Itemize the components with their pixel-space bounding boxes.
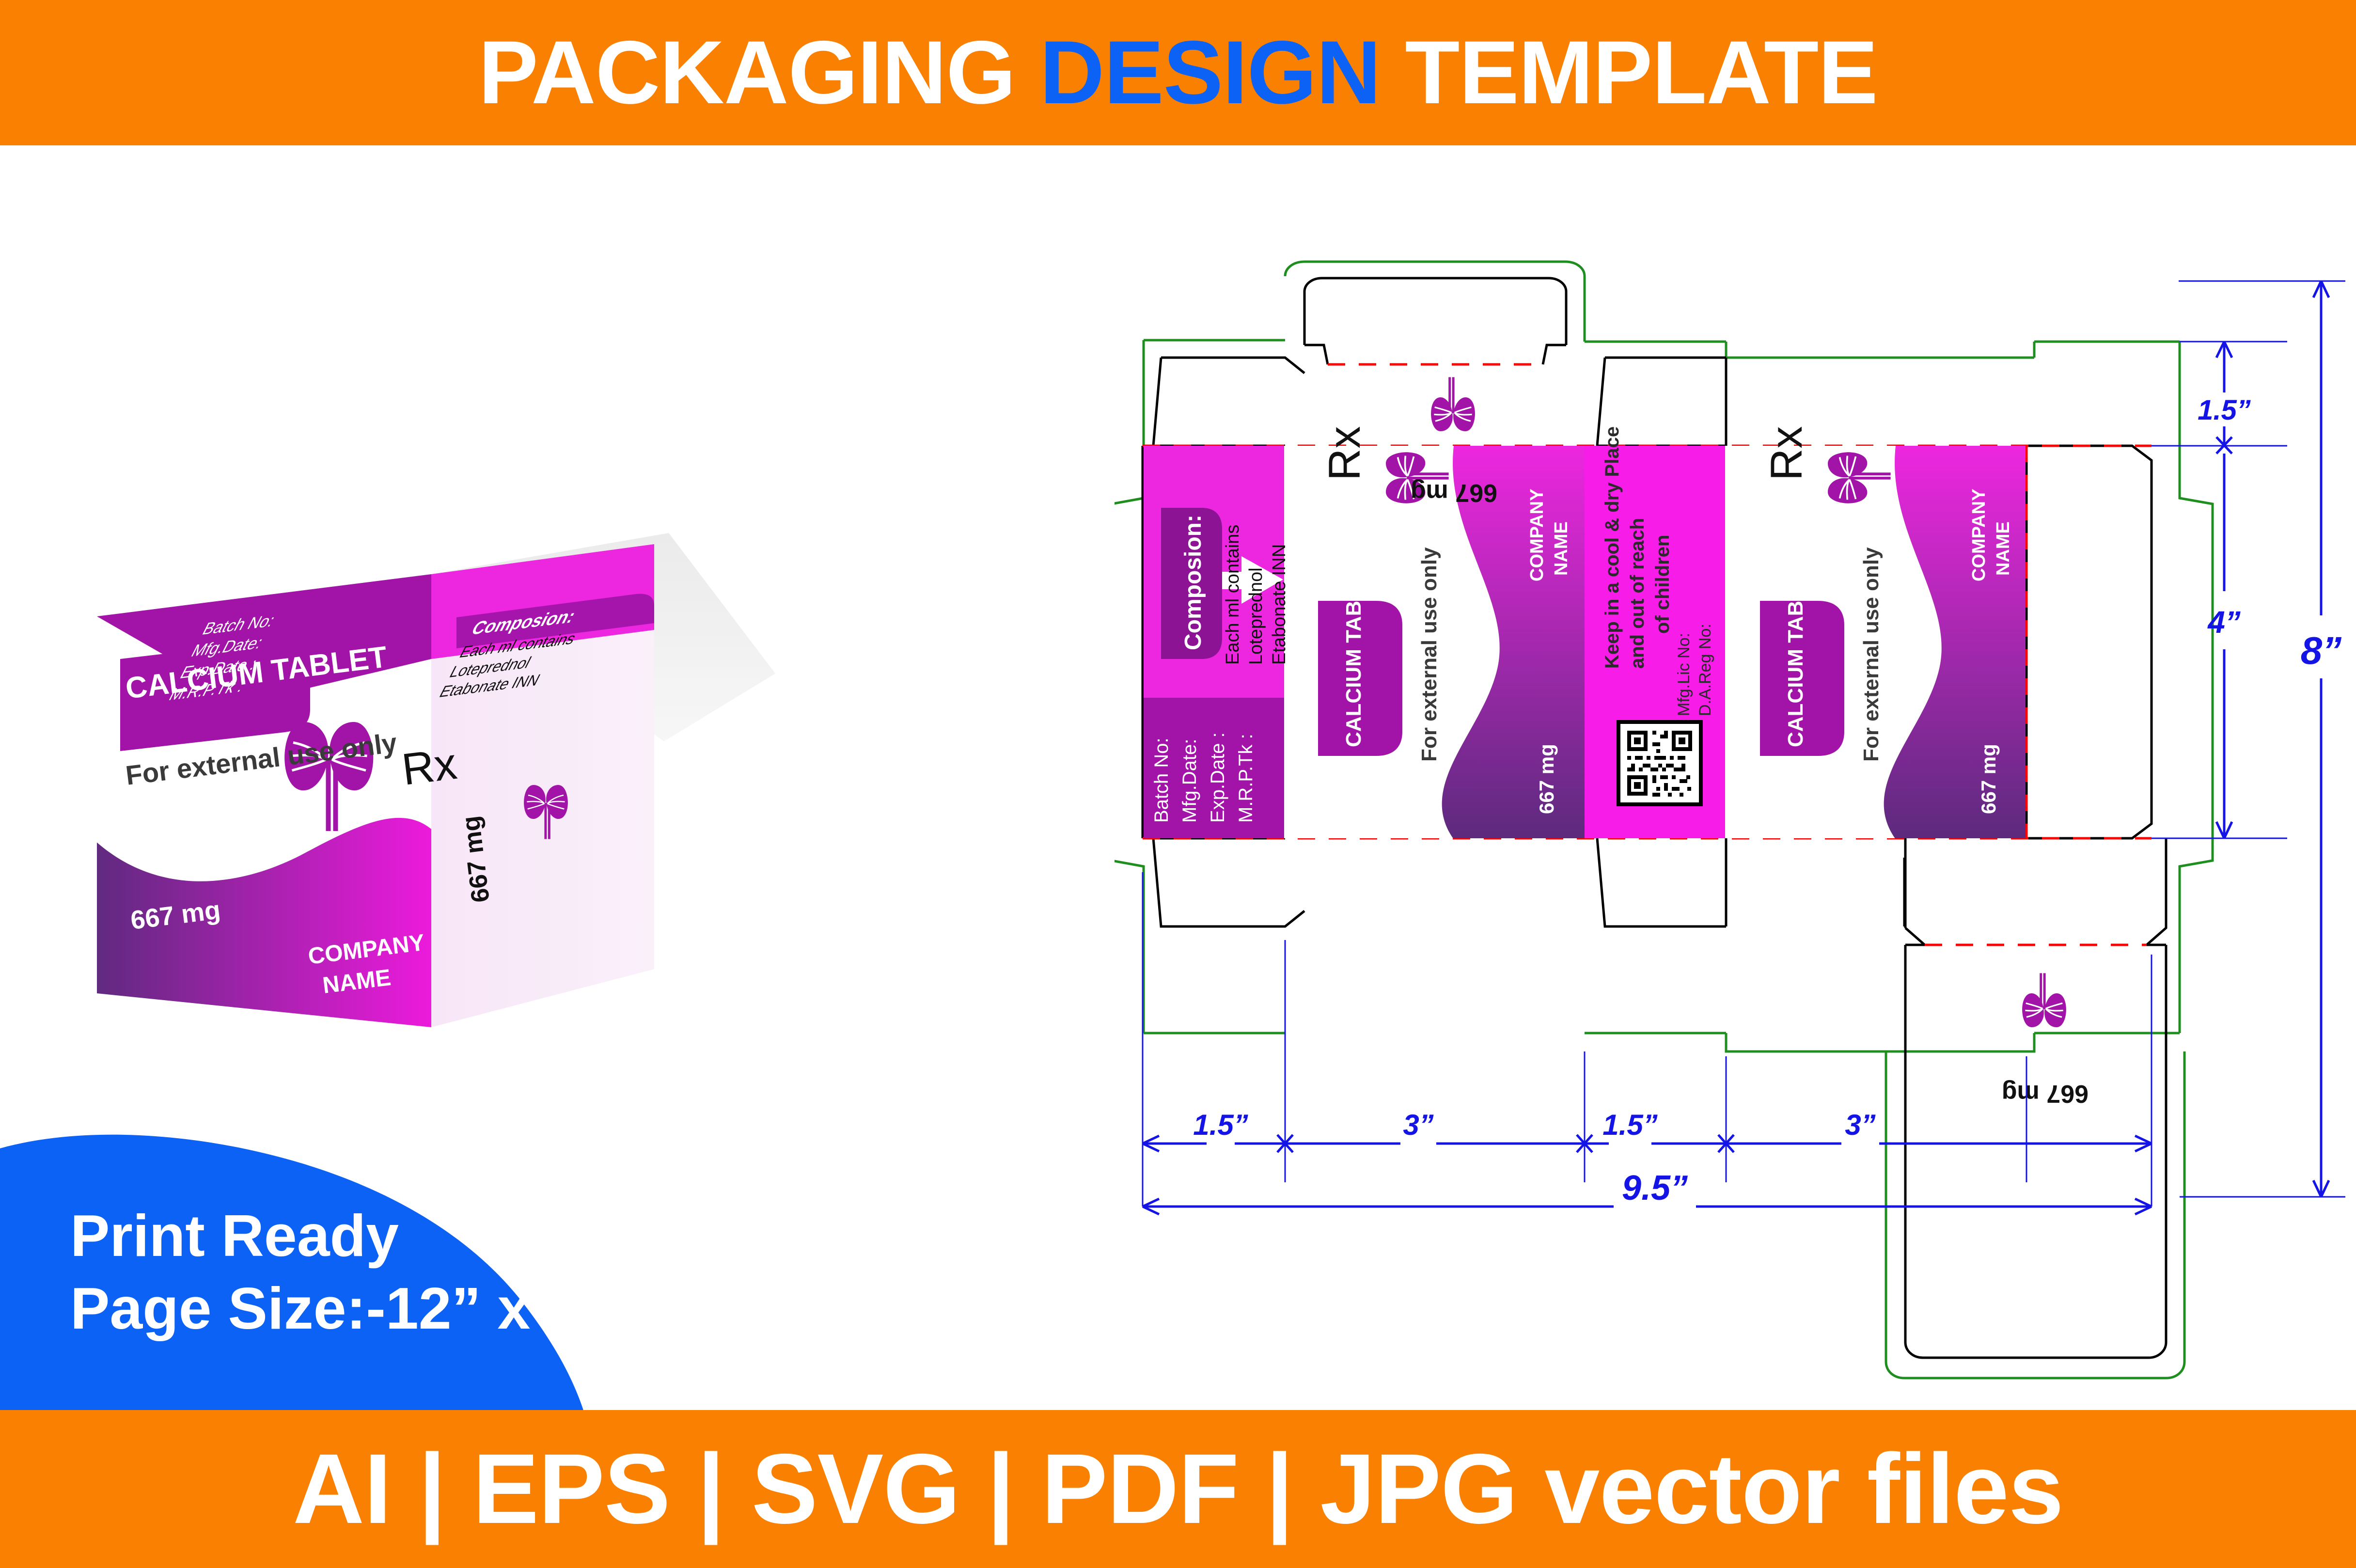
kidney-icon-top-flap xyxy=(1431,377,1475,431)
dim-label-total-width: 9.5” xyxy=(1622,1169,1688,1207)
qr-code xyxy=(1618,722,1701,804)
dieline-drawing: Composion: Each ml contains Loteprednol … xyxy=(1115,233,2355,1405)
title-part-design: DESIGN xyxy=(1040,23,1381,123)
storage-line-2: and out of reach xyxy=(1627,518,1648,669)
license-line-2: D.A.Reg No: xyxy=(1696,624,1714,716)
title-part-template: TEMPLATE xyxy=(1381,23,1878,123)
rx-symbol-panel-d: Rx xyxy=(1762,426,1811,481)
batch-line-3: Exp.Date : xyxy=(1207,732,1228,823)
dim-label-h1: 1.5” xyxy=(1193,1109,1248,1141)
company-line2-panel-b: NAME xyxy=(1551,521,1571,576)
page-size-label: Page Size:-12” x 12” xyxy=(70,1274,642,1342)
product-name-panel-d: CALCIUM TABLET xyxy=(1784,561,1807,747)
dosage-panel-d: 667 mg xyxy=(1977,744,2000,814)
batch-line-1: Batch No: xyxy=(1151,737,1172,823)
company-line1-panel-b: COMPANY xyxy=(1527,489,1547,581)
composition-line-3: Etabonate INN xyxy=(1269,544,1289,665)
bottom-banner: AI | EPS | SVG | PDF | JPG vector files xyxy=(0,1410,2356,1568)
dosage-panel-b: 667 mg xyxy=(1535,744,1558,814)
dim-label-v-total: 8” xyxy=(2301,629,2342,672)
top-banner: PACKAGING DESIGN TEMPLATE xyxy=(0,0,2356,145)
composition-line-1: Each ml contains xyxy=(1223,525,1243,665)
composition-title: Composion: xyxy=(1180,515,1206,650)
batch-line-4: M.R.P.Tk : xyxy=(1235,734,1257,823)
license-line-1: Mfg.Lic No: xyxy=(1675,633,1693,716)
dim-label-h2: 3” xyxy=(1403,1109,1433,1141)
usage-panel-d: For external use only xyxy=(1859,547,1883,762)
dim-label-h4: 3” xyxy=(1845,1109,1875,1141)
file-formats-label: AI | EPS | SVG | PDF | JPG vector files xyxy=(293,1432,2063,1546)
rx-symbol-panel-b: Rx xyxy=(1320,426,1369,481)
storage-line-3: of children xyxy=(1652,535,1673,634)
title-part-packaging: PACKAGING xyxy=(478,23,1039,123)
mockup-rx-symbol: Rx xyxy=(399,739,459,795)
company-line1-panel-d: COMPANY xyxy=(1969,489,1989,581)
dim-label-v-top: 1.5” xyxy=(2198,394,2251,426)
storage-line-1: Keep in a cool & dry Place xyxy=(1602,426,1623,669)
company-line2-panel-d: NAME xyxy=(1993,521,2013,576)
batch-line-2: Mfg.Date: xyxy=(1179,739,1200,823)
dim-label-h3: 1.5” xyxy=(1602,1109,1657,1141)
page-title: PACKAGING DESIGN TEMPLATE xyxy=(478,21,1877,124)
product-name-panel-b: CALCIUM TABLET xyxy=(1342,561,1366,747)
usage-panel-b: For external use only xyxy=(1417,547,1441,762)
dim-label-v-mid: 4” xyxy=(2207,605,2241,640)
packaging-template-page: PACKAGING DESIGN TEMPLATE xyxy=(0,0,2356,1568)
composition-line-2: Loteprednol xyxy=(1246,567,1266,665)
box-3d-mockup: CALCIUM TABLET For external use only 667… xyxy=(97,514,882,1095)
print-ready-label: Print Ready xyxy=(70,1202,399,1270)
kidney-icon-bottom-flap xyxy=(2022,973,2066,1027)
dosage-bottom-flap: 667 mg xyxy=(2002,1080,2089,1108)
dosage-top-flap: 667 mg xyxy=(1411,479,1497,507)
